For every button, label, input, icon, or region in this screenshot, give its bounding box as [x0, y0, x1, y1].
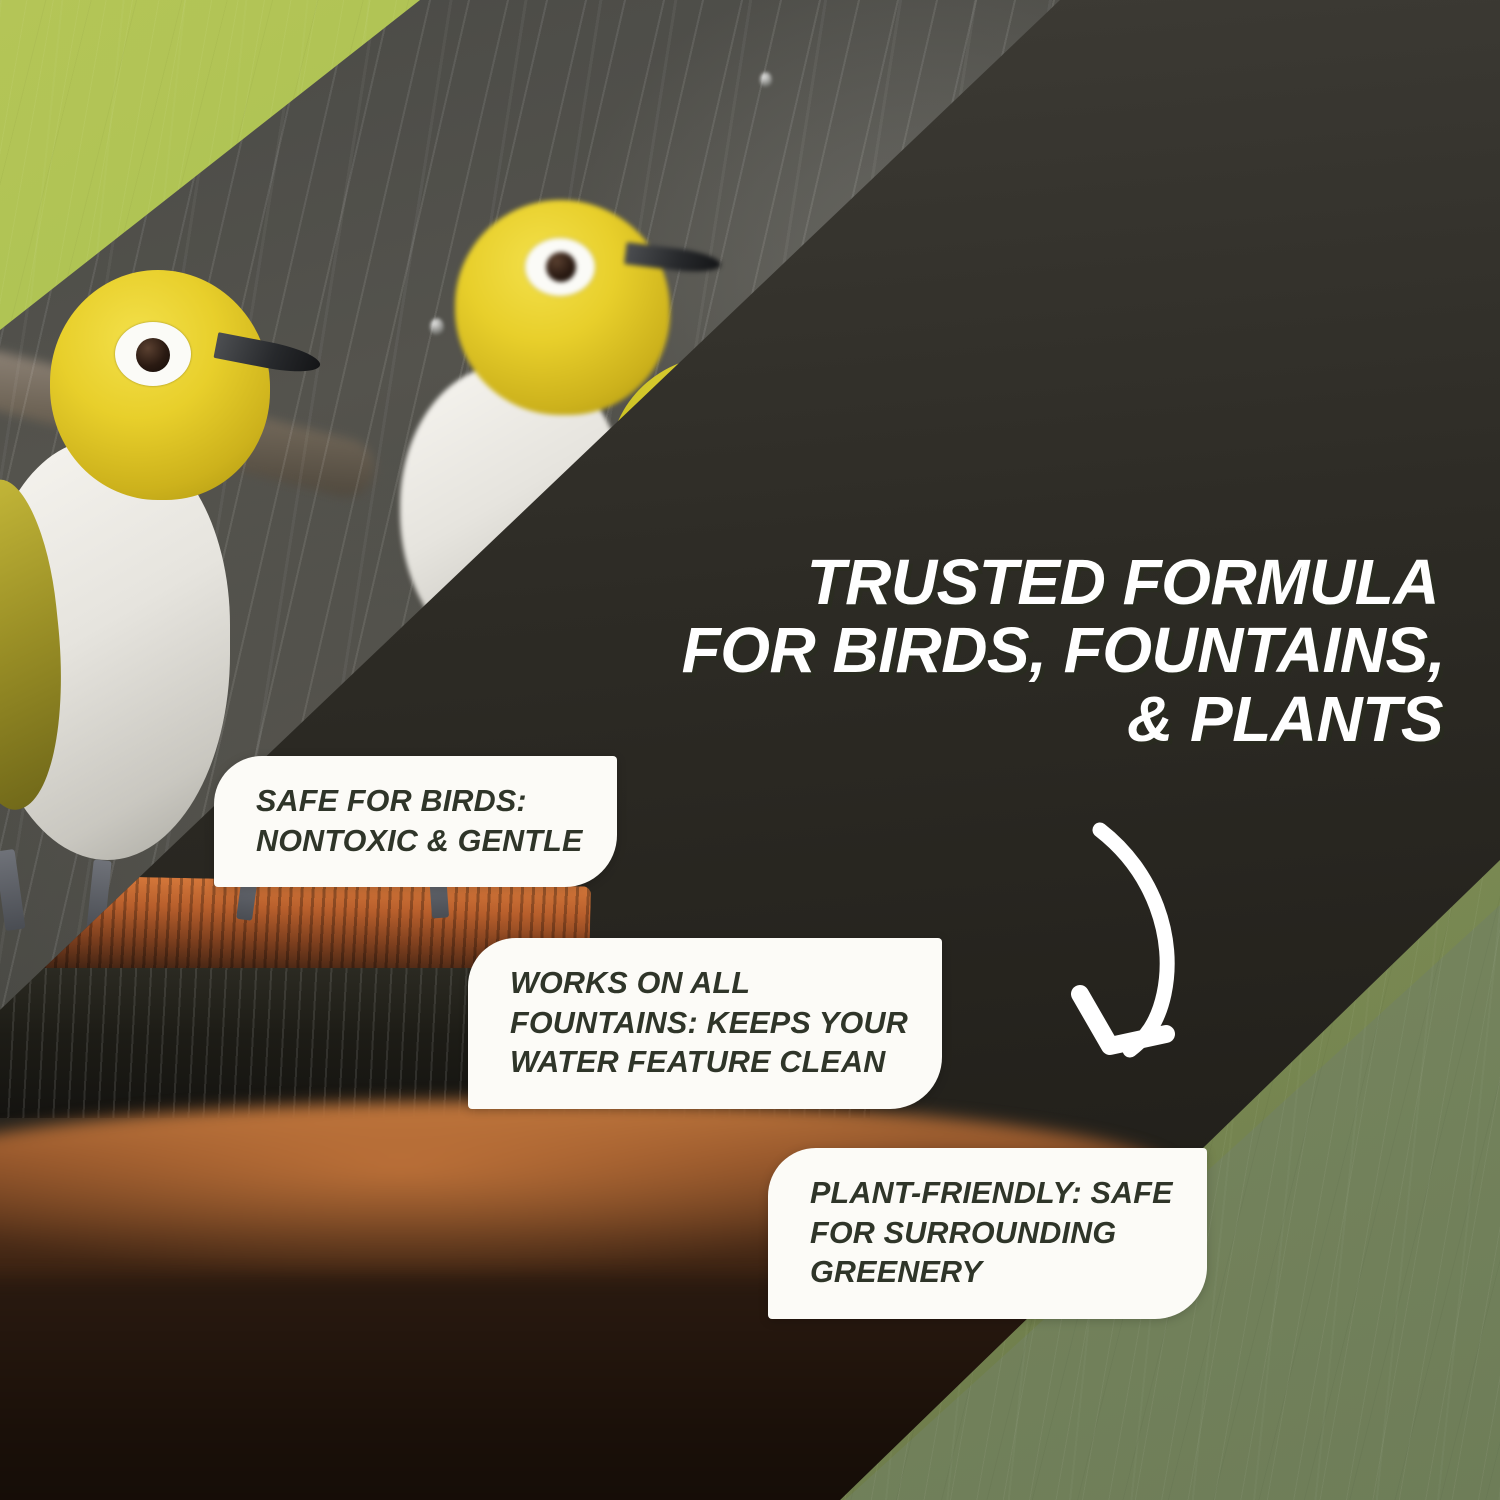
headline-line-1: TRUSTED FORMULA: [620, 548, 1445, 616]
callout-line: WORKS ON ALL: [510, 964, 908, 1004]
callout-card-safe-for-birds: SAFE FOR BIRDS: NONTOXIC & GENTLE: [214, 756, 617, 887]
callout-line: PLANT-FRIENDLY: SAFE: [810, 1174, 1173, 1214]
callout-line: SAFE FOR BIRDS:: [256, 782, 583, 822]
callout-card-plant-friendly: PLANT-FRIENDLY: SAFE FOR SURROUNDING GRE…: [768, 1148, 1207, 1319]
callout-line: GREENERY: [810, 1253, 1173, 1293]
headline-line-3: & PLANTS: [620, 685, 1445, 753]
bird-foot: [0, 849, 25, 931]
callout-line: FOUNTAINS: KEEPS YOUR: [510, 1004, 908, 1044]
callout-line: NONTOXIC & GENTLE: [256, 822, 583, 862]
page-title: TRUSTED FORMULA FOR BIRDS, FOUNTAINS, & …: [620, 548, 1445, 753]
headline-line-2: FOR BIRDS, FOUNTAINS,: [620, 616, 1445, 684]
bird-eye: [136, 338, 170, 372]
raindrop: [760, 72, 772, 88]
infographic-canvas: TRUSTED FORMULA FOR BIRDS, FOUNTAINS, & …: [0, 0, 1500, 1500]
bird-eye: [546, 252, 576, 282]
callout-card-works-on-all-fountains: WORKS ON ALL FOUNTAINS: KEEPS YOUR WATER…: [468, 938, 942, 1109]
callout-line: FOR SURROUNDING: [810, 1214, 1173, 1254]
curved-down-arrow-icon: [1058, 798, 1308, 1083]
callout-line: WATER FEATURE CLEAN: [510, 1043, 908, 1083]
